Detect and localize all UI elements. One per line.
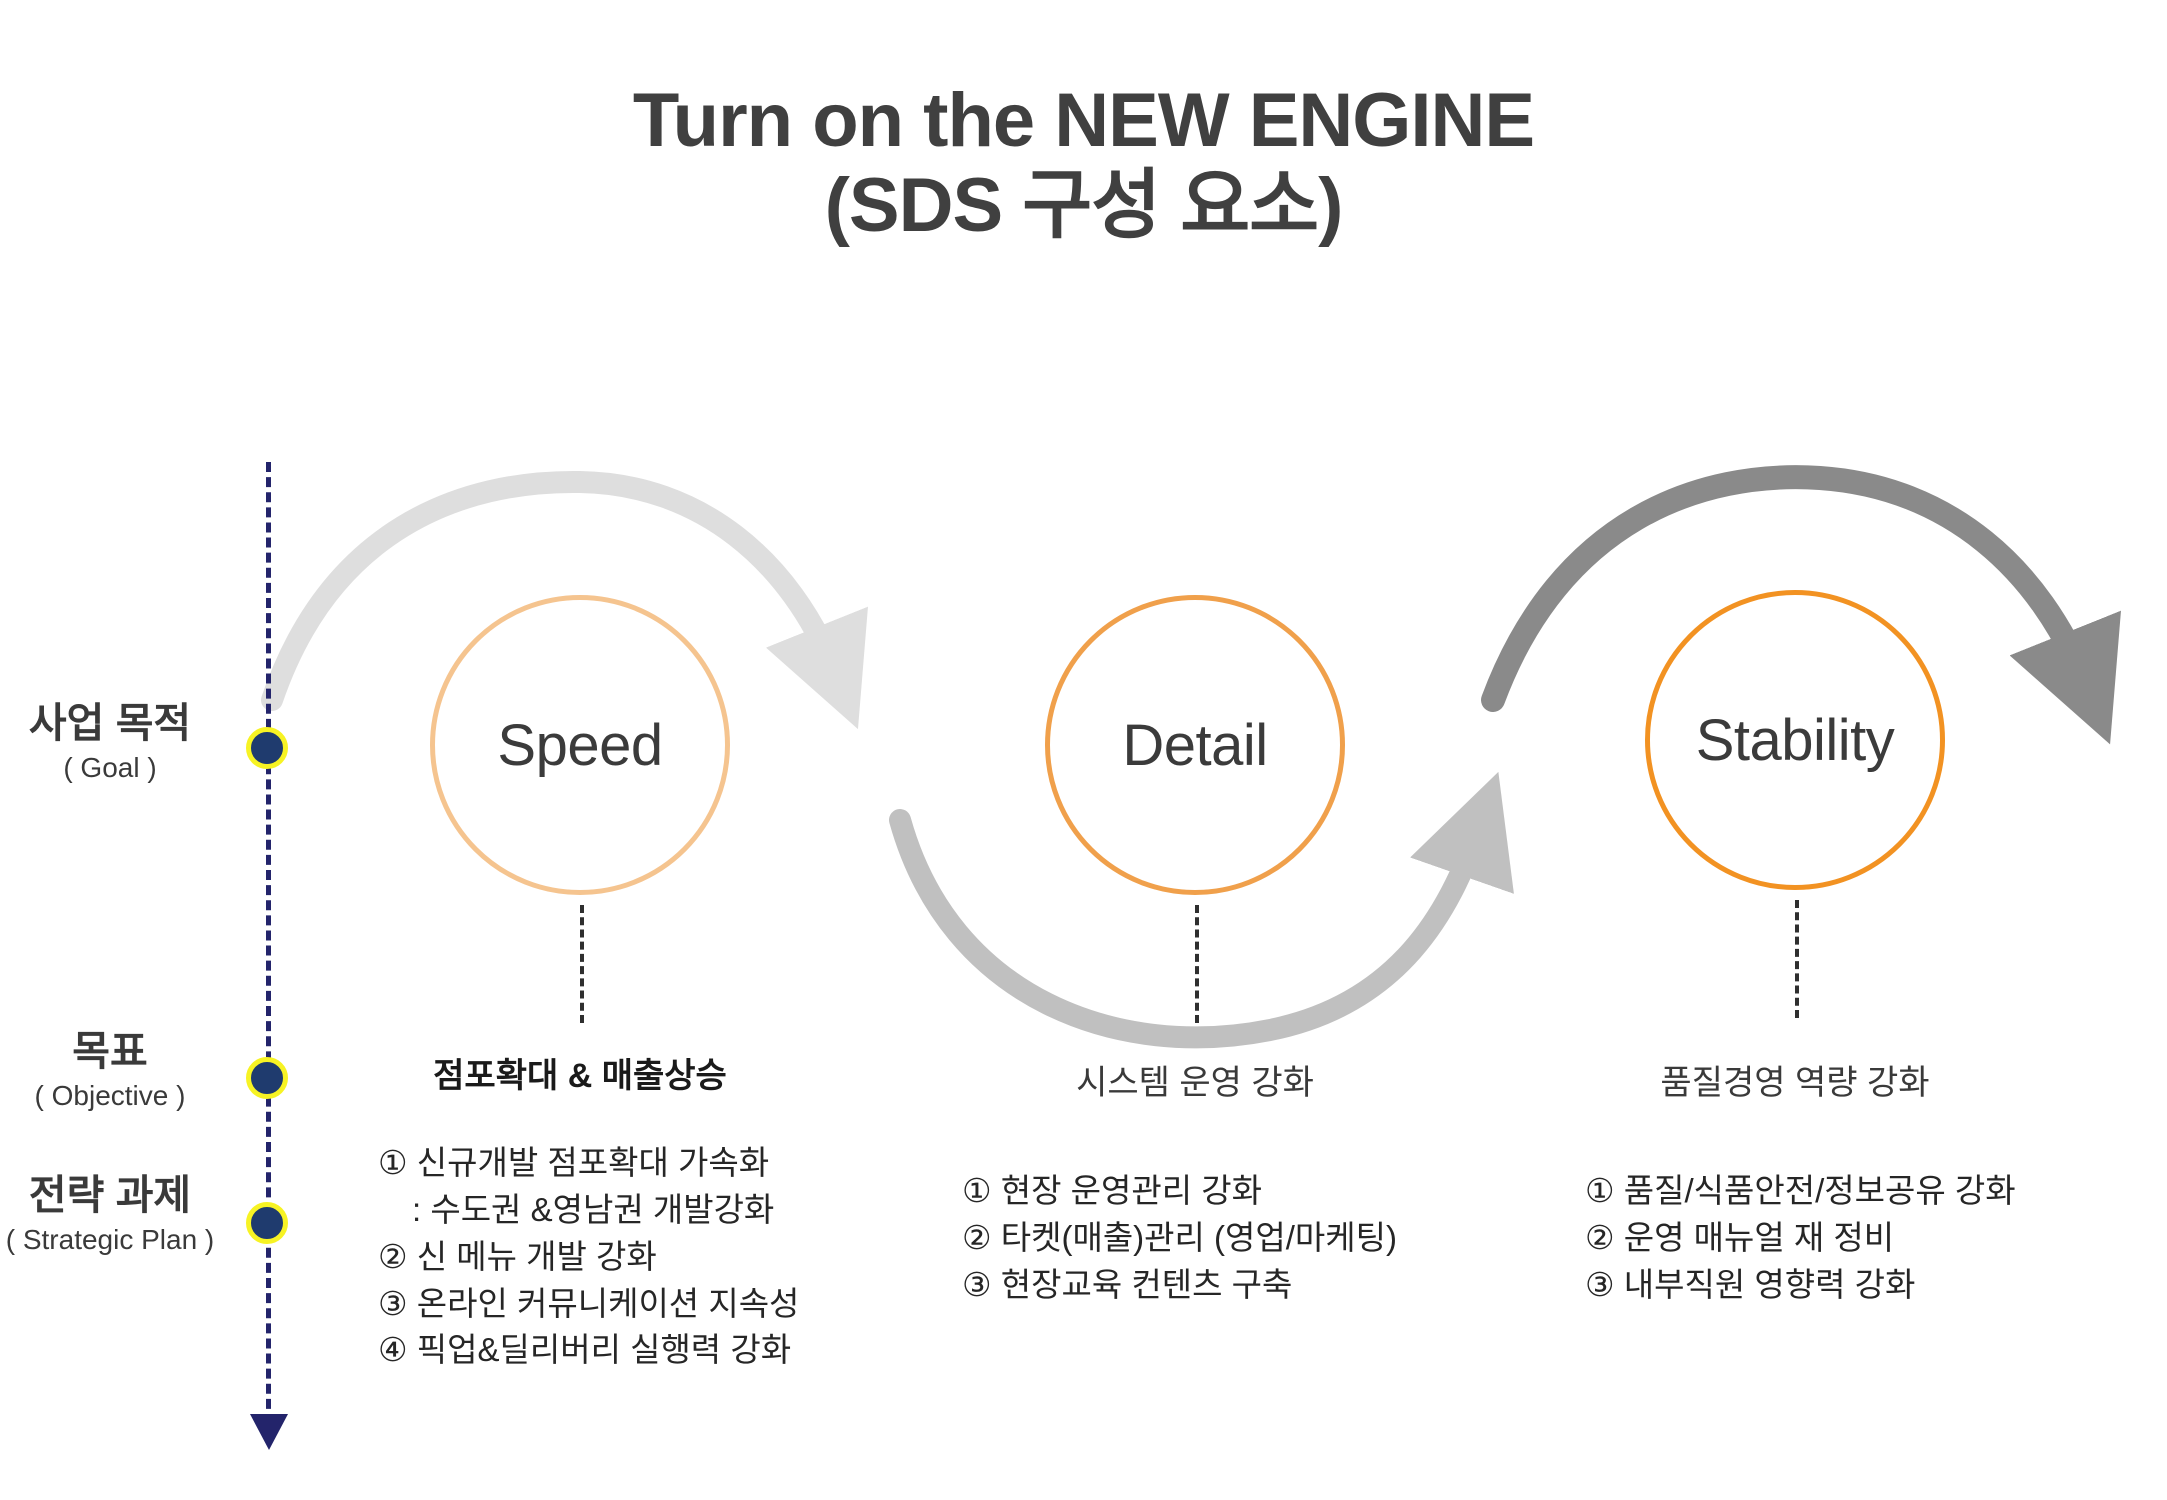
task-list-stability: ① 품질/식품안전/정보공유 강화 ② 운영 매뉴얼 재 정비 ③ 내부직원 영… [1585,1168,2167,1309]
axis-label-strategy: 전략 과제 ( Strategic Plan ) [0,1172,260,1257]
task-item: ③ 내부직원 영향력 강화 [1585,1262,2167,1309]
task-item: ③ 온라인 커뮤니케이션 지속성 [378,1281,998,1328]
task-item: ① 품질/식품안전/정보공유 강화 [1585,1168,2167,1215]
task-list-speed: ① 신규개발 점포확대 가속화 : 수도권 &영남권 개발강화 ② 신 메뉴 개… [378,1140,998,1374]
task-item: ② 신 메뉴 개발 강화 [378,1234,998,1281]
axis-label-strategy-en: ( Strategic Plan ) [0,1223,260,1257]
objective-detail: 시스템 운영 강화 [915,1055,1475,1104]
axis-label-goal: 사업 목적 ( Goal ) [0,700,260,785]
pillar-name-speed: Speed [497,712,662,779]
objective-stability: 품질경영 역량 강화 [1515,1055,2075,1104]
axis-label-objective-ko: 목표 [0,1028,260,1075]
objective-speed: 점포확대 & 매출상승 [300,1048,860,1097]
task-list-detail: ① 현장 운영관리 강화 ② 타켓(매출)관리 (영업/마케팅) ③ 현장교육 … [962,1168,1582,1309]
page-title: Turn on the NEW ENGINE (SDS 구성 요소) [0,78,2167,248]
slide-canvas: Turn on the NEW ENGINE (SDS 구성 요소) [0,0,2167,1500]
vertical-timeline [258,462,280,1452]
connector-stability [1795,900,1799,1018]
task-item: ② 운영 매뉴얼 재 정비 [1585,1215,2167,1262]
axis-label-goal-en: ( Goal ) [0,751,260,785]
connector-speed [580,905,584,1023]
axis-label-objective: 목표 ( Objective ) [0,1028,260,1113]
pillar-name-stability: Stability [1696,707,1895,774]
title-line-1: Turn on the NEW ENGINE [0,78,2167,163]
task-item: ② 타켓(매출)관리 (영업/마케팅) [962,1215,1582,1262]
pillar-circle-speed[interactable]: Speed [430,595,730,895]
task-item: ③ 현장교육 컨텐츠 구축 [962,1262,1582,1309]
axis-label-objective-en: ( Objective ) [0,1079,260,1113]
pillar-circle-stability[interactable]: Stability [1645,590,1945,890]
task-item: ① 신규개발 점포확대 가속화 [378,1140,998,1187]
axis-label-goal-ko: 사업 목적 [0,700,260,747]
title-line-2: (SDS 구성 요소) [0,163,2167,248]
task-item: : 수도권 &영남권 개발강화 [378,1187,998,1234]
pillar-circle-detail[interactable]: Detail [1045,595,1345,895]
pillar-name-detail: Detail [1122,712,1267,779]
connector-detail [1195,905,1199,1023]
task-item: ① 현장 운영관리 강화 [962,1168,1582,1215]
timeline-arrowhead-icon [250,1414,288,1450]
task-item: ④ 픽업&딜리버리 실행력 강화 [378,1327,998,1374]
axis-label-strategy-ko: 전략 과제 [0,1172,260,1219]
timeline-dashed-line [266,462,271,1424]
